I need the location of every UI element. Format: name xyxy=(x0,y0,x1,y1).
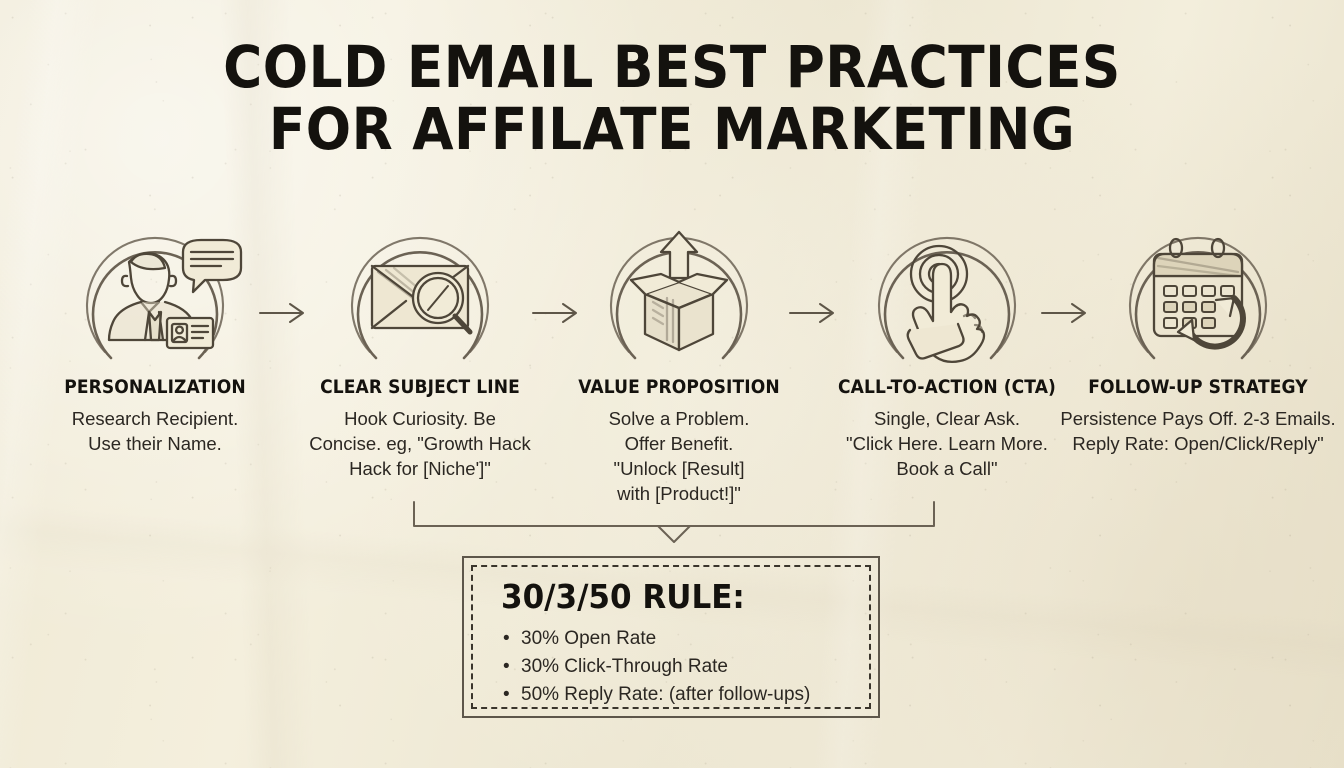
step-body-line: Persistence Pays Off. 2-3 Emails. xyxy=(1053,406,1343,431)
process-steps: PERSONALIZATION Research Recipient. Use … xyxy=(0,218,1344,518)
title-line-2: FOR AFFILATE MARKETING xyxy=(54,98,1290,160)
follow-up-strategy-icon-circle xyxy=(1053,218,1343,370)
flow-arrow-4 xyxy=(1040,300,1096,326)
personalization-icon-circle xyxy=(25,218,285,370)
step-value-proposition: VALUE PROPOSITION Solve a Problem. Offer… xyxy=(560,218,798,506)
value-proposition-icon-circle xyxy=(560,218,798,370)
step-body-line: Use their Name. xyxy=(25,431,285,456)
step-body: Solve a Problem. Offer Benefit. "Unlock … xyxy=(560,406,798,506)
step-personalization: PERSONALIZATION Research Recipient. Use … xyxy=(25,218,285,456)
rule-list-item: 50% Reply Rate: (after follow-ups) xyxy=(501,681,869,709)
step-title: FOLLOW-UP STRATEGY xyxy=(1068,376,1329,398)
rule-list-item: 30% Open Rate xyxy=(501,625,869,653)
step-body: Single, Clear Ask. "Click Here. Learn Mo… xyxy=(813,406,1081,481)
flow-arrow-3 xyxy=(788,300,844,326)
step-title: CLEAR SUBJECT LINE xyxy=(301,376,539,398)
step-body: Hook Curiosity. Be Concise. eg, "Growth … xyxy=(288,406,552,481)
step-body-line: Concise. eg, "Growth Hack xyxy=(288,431,552,456)
flow-arrow-2 xyxy=(531,300,587,326)
step-body-line: with [Product!]" xyxy=(560,481,798,506)
calendar-refresh-icon xyxy=(1154,239,1243,347)
click-hand-icon xyxy=(908,246,984,362)
step-clear-subject-line: CLEAR SUBJECT LINE Hook Curiosity. Be Co… xyxy=(288,218,552,481)
step-body-line: Solve a Problem. xyxy=(560,406,798,431)
step-body-line: Single, Clear Ask. xyxy=(813,406,1081,431)
page-title: COLD EMAIL BEST PRACTICES FOR AFFILATE M… xyxy=(0,36,1344,160)
call-to-action-icon-circle xyxy=(813,218,1081,370)
step-body-line: Reply Rate: Open/Click/Reply" xyxy=(1053,431,1343,456)
step-body-line: Hook Curiosity. Be xyxy=(288,406,552,431)
step-call-to-action: CALL-TO-ACTION (CTA) Single, Clear Ask. … xyxy=(813,218,1081,481)
title-line-1: COLD EMAIL BEST PRACTICES xyxy=(54,36,1290,98)
step-body-line: Hack for [Niche']" xyxy=(288,456,552,481)
step-follow-up-strategy: FOLLOW-UP STRATEGY Persistence Pays Off.… xyxy=(1053,218,1343,456)
step-title: CALL-TO-ACTION (CTA) xyxy=(826,376,1067,398)
step-body-line: "Unlock [Result] xyxy=(560,456,798,481)
rule-list: 30% Open Rate 30% Click-Through Rate 50%… xyxy=(501,625,869,709)
flow-arrow-1 xyxy=(258,300,314,326)
step-body-line: Book a Call" xyxy=(813,456,1081,481)
rule-heading: 30/3/50 RULE: xyxy=(501,577,847,617)
open-box-arrow-icon xyxy=(631,232,727,350)
envelope-magnifier-icon xyxy=(372,266,470,332)
step-body-line: Offer Benefit. xyxy=(560,431,798,456)
step-body: Research Recipient. Use their Name. xyxy=(25,406,285,456)
step-title: VALUE PROPOSITION xyxy=(572,376,786,398)
clear-subject-line-icon-circle xyxy=(288,218,552,370)
rule-box-inner-border: 30/3/50 RULE: 30% Open Rate 30% Click-Th… xyxy=(471,565,871,709)
step-body: Persistence Pays Off. 2-3 Emails. Reply … xyxy=(1053,406,1343,456)
step-body-line: Research Recipient. xyxy=(25,406,285,431)
step-body-line: "Click Here. Learn More. xyxy=(813,431,1081,456)
step-title: PERSONALIZATION xyxy=(38,376,272,398)
rule-box: 30/3/50 RULE: 30% Open Rate 30% Click-Th… xyxy=(462,556,880,718)
infographic-poster: COLD EMAIL BEST PRACTICES FOR AFFILATE M… xyxy=(0,0,1344,768)
rule-list-item: 30% Click-Through Rate xyxy=(501,653,869,681)
